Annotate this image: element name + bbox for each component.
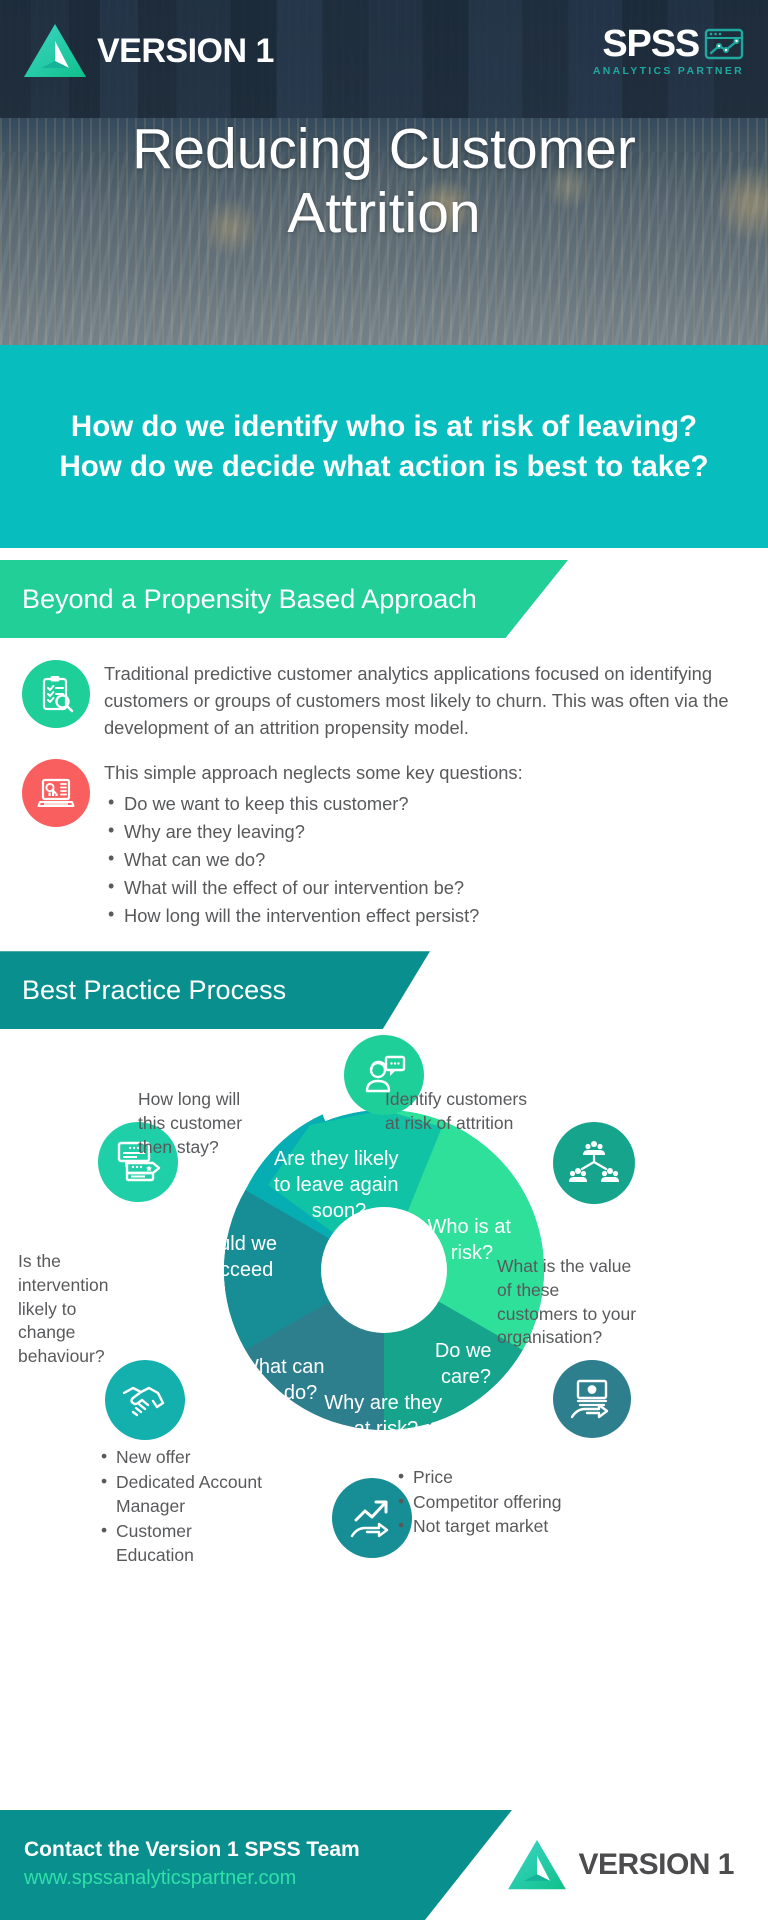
callout-right: What is the value of these customers to … xyxy=(497,1255,643,1350)
hero-section: VERSION 1 SPSS xyxy=(0,0,768,345)
spss-tagline: ANALYTICS PARTNER xyxy=(593,65,744,77)
callout-top-right-line1: Identify customers xyxy=(385,1088,555,1112)
section-header-label: Best Practice Process xyxy=(22,975,286,1006)
handshake-icon xyxy=(105,1360,185,1440)
list-item: Customer Education xyxy=(98,1519,273,1568)
footer-version1-logo: VERSION 1 xyxy=(506,1838,734,1892)
callout-top-right: Identify customers at risk of attrition xyxy=(385,1088,555,1135)
spss-logo: SPSS ANALYTICS PARTNER xyxy=(593,25,744,77)
money-in-hand-icon xyxy=(553,1360,631,1438)
spss-wordmark: SPSS xyxy=(602,25,699,63)
footer-version1-wordmark: VERSION 1 xyxy=(578,1848,734,1882)
footer-title: Contact the Version 1 SPSS Team xyxy=(24,1836,360,1863)
page-title: Reducing Customer Attrition xyxy=(0,118,768,246)
propensity-paragraph: Traditional predictive customer analytic… xyxy=(104,660,742,741)
section-header-label: Beyond a Propensity Based Approach xyxy=(22,584,477,615)
clipboard-checklist-search-icon xyxy=(22,660,90,728)
beyond-propensity-body: Traditional predictive customer analytic… xyxy=(0,638,768,929)
list-item: What will the effect of our intervention… xyxy=(104,874,742,902)
brand-row: VERSION 1 SPSS xyxy=(0,22,768,80)
version1-logo: VERSION 1 xyxy=(22,22,274,80)
list-item: New offer xyxy=(98,1445,273,1470)
list-item: Price xyxy=(395,1465,585,1490)
question-banner: How do we identify who is at risk of lea… xyxy=(0,345,768,548)
section-header-best-practice: Best Practice Process xyxy=(0,951,768,1029)
footer-url-link[interactable]: www.spssanalyticspartner.com xyxy=(24,1865,360,1892)
best-practice-wheel: Who is at risk? Do we care? Why are they… xyxy=(0,1035,768,1615)
propensity-paragraph-row: Traditional predictive customer analytic… xyxy=(22,660,742,741)
section-header-beyond-propensity: Beyond a Propensity Based Approach xyxy=(0,560,768,638)
version1-wordmark: VERSION 1 xyxy=(97,32,274,71)
version1-triangle-logo-icon xyxy=(506,1838,568,1892)
key-questions-list: Do we want to keep this customer? Why ar… xyxy=(104,790,742,929)
spss-chart-window-icon xyxy=(704,27,744,61)
list-item: Not target market xyxy=(395,1514,585,1539)
infographic-page: VERSION 1 SPSS xyxy=(0,0,768,1920)
laptop-dashboard-analytics-icon xyxy=(22,759,90,827)
version1-triangle-logo-icon xyxy=(22,22,88,80)
key-questions-intro: This simple approach neglects some key q… xyxy=(104,759,742,786)
list-item: Why are they leaving? xyxy=(104,818,742,846)
callout-top-right-line2: at risk of attrition xyxy=(385,1112,555,1136)
footer-contact-block: Contact the Version 1 SPSS Team www.spss… xyxy=(24,1836,360,1892)
list-item: What can we do? xyxy=(104,846,742,874)
footer: Contact the Version 1 SPSS Team www.spss… xyxy=(0,1810,768,1920)
callout-bottom-right-list: Price Competitor offering Not target mar… xyxy=(395,1465,585,1539)
key-questions-row: This simple approach neglects some key q… xyxy=(22,759,742,929)
list-item: Competitor offering xyxy=(395,1490,585,1515)
page-title-line2: Attrition xyxy=(0,182,768,246)
page-title-line1: Reducing Customer xyxy=(0,118,768,182)
list-item: Dedicated Account Manager xyxy=(98,1470,273,1519)
question-banner-text: How do we identify who is at risk of lea… xyxy=(52,407,716,485)
list-item: How long will the intervention effect pe… xyxy=(104,902,742,930)
callout-bottom-left-list: New offer Dedicated Account Manager Cust… xyxy=(98,1445,273,1568)
callout-left: Is the intervention likely to change beh… xyxy=(18,1250,136,1368)
list-item: Do we want to keep this customer? xyxy=(104,790,742,818)
callout-top-left: How long will this customer then stay? xyxy=(138,1088,268,1159)
people-network-group-icon xyxy=(553,1122,635,1204)
